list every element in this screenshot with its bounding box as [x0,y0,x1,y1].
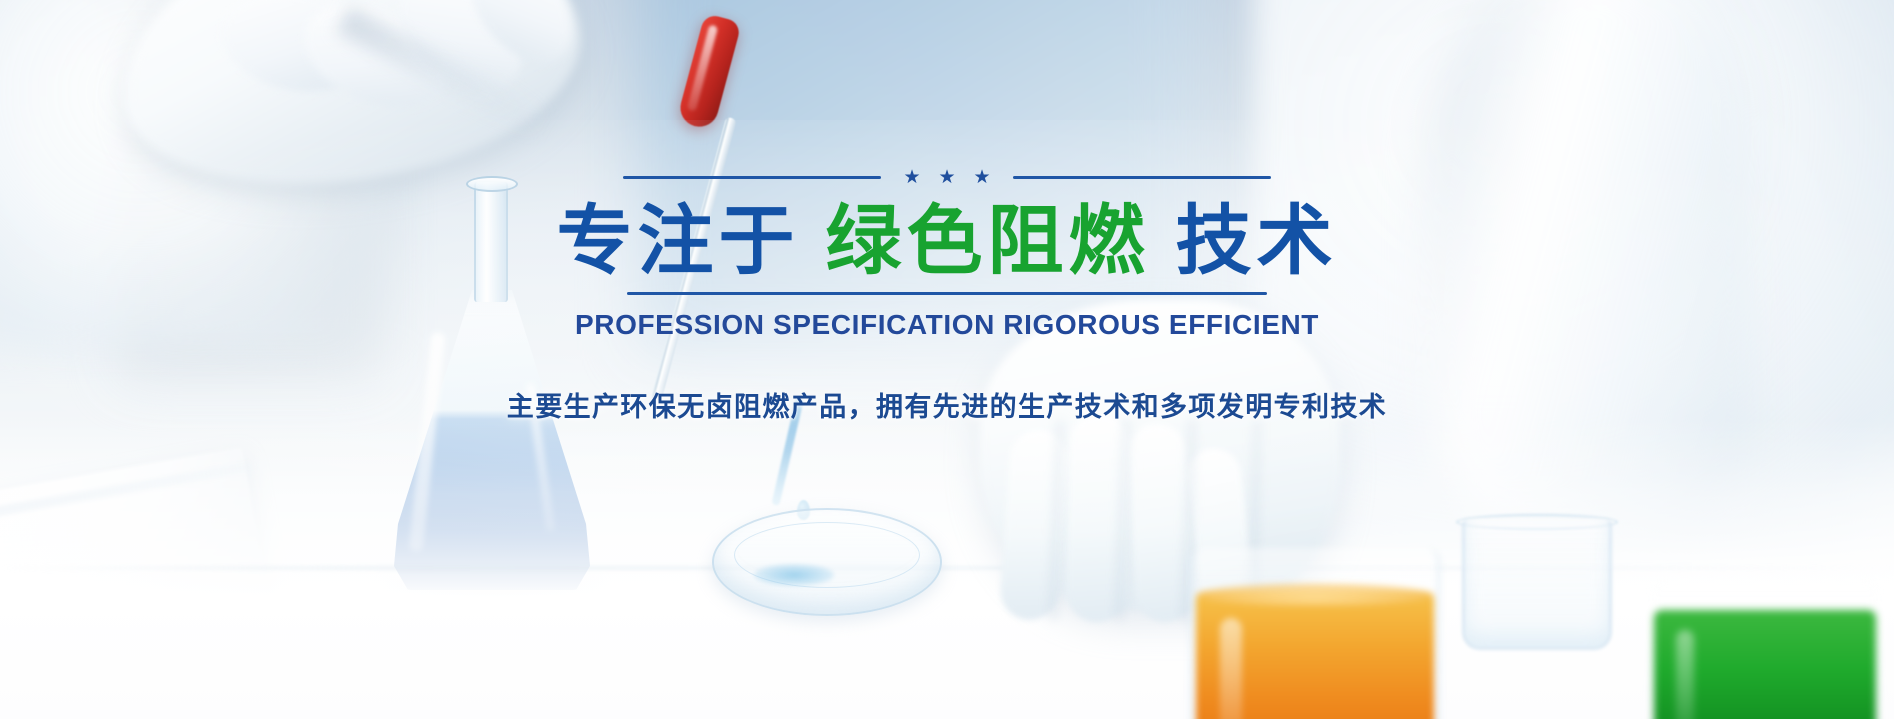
star-icon: ★ [938,168,955,187]
hero-banner: ★ ★ ★ 专注于 绿色阻燃 技术 PROFESSION SPECIFICATI… [0,0,1894,719]
divider-stars: ★ ★ ★ [881,168,1012,187]
title-underline [627,292,1267,295]
decorative-divider: ★ ★ ★ [623,168,1271,187]
headline-part-2: 绿色阻燃 [826,199,1150,284]
star-icon: ★ [974,168,991,187]
divider-line-right [1013,176,1271,179]
star-icon: ★ [903,168,920,187]
page-description: 主要生产环保无卤阻燃产品，拥有先进的生产技术和多项发明专利技术 [507,385,1387,424]
page-subtitle: PROFESSION SPECIFICATION RIGOROUS EFFICI… [575,309,1319,341]
headline-part-3: 技术 [1176,199,1338,284]
banner-content: ★ ★ ★ 专注于 绿色阻燃 技术 PROFESSION SPECIFICATI… [0,0,1894,719]
page-title: 专注于 绿色阻燃 技术 [557,199,1338,284]
divider-line-left [623,176,881,179]
headline-part-1: 专注于 [557,199,800,284]
